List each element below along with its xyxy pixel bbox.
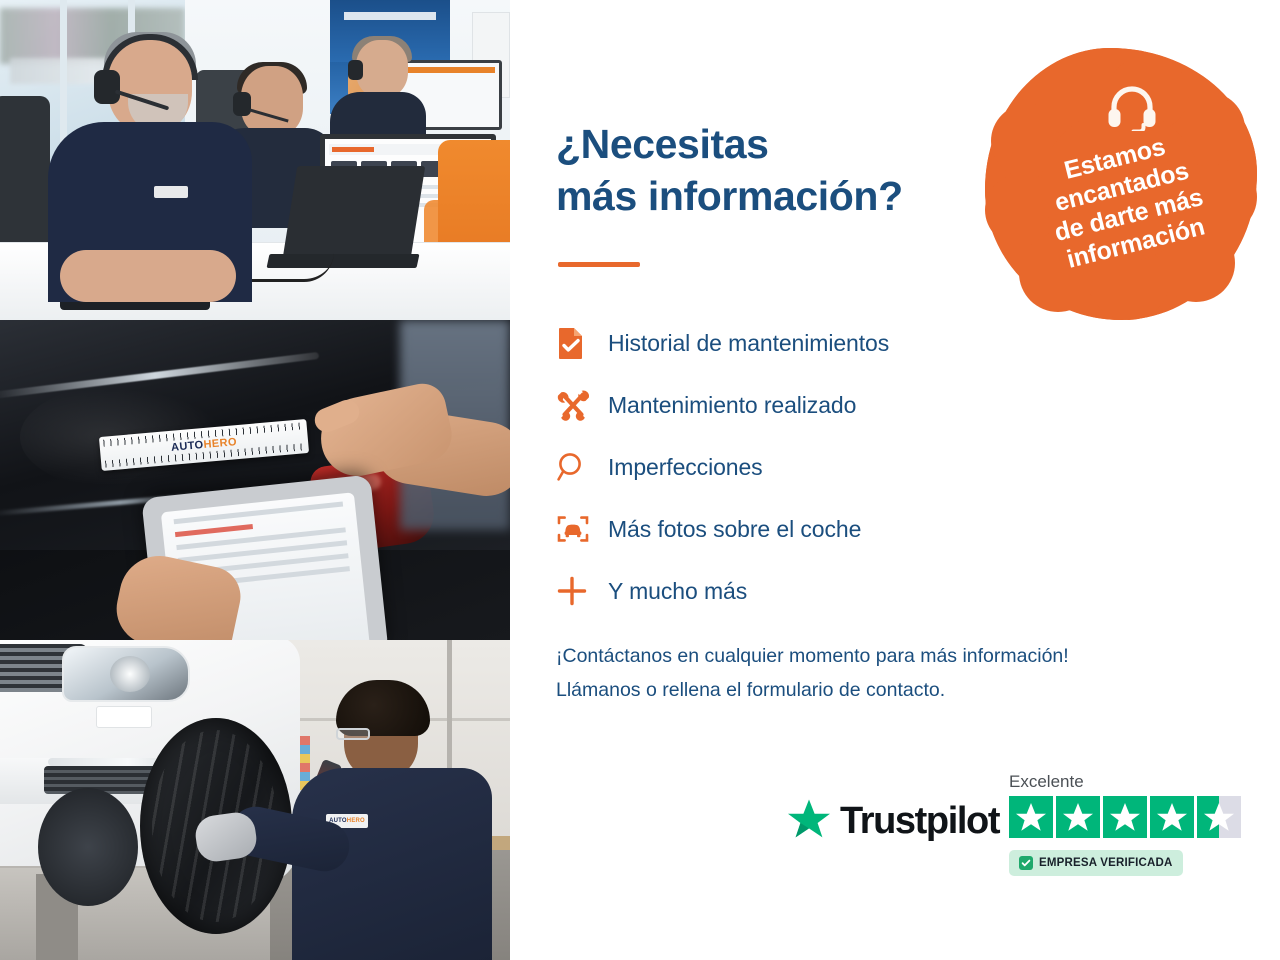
- feature-item-more-photos: Más fotos sobre el coche: [556, 498, 1076, 560]
- feature-label: Más fotos sobre el coche: [608, 516, 861, 543]
- star-icon: [1103, 796, 1147, 838]
- car-headlight: [62, 646, 190, 702]
- feature-label: Mantenimiento realizado: [608, 392, 856, 419]
- badge-text: Estamos encantados de darte más informac…: [956, 19, 1280, 349]
- trustpilot-widget[interactable]: Trustpilot Excelente EMPRESA: [787, 772, 1207, 882]
- license-plate: [96, 706, 152, 728]
- check-badge-icon: [1019, 856, 1033, 870]
- page-title: ¿Necesitas más información?: [556, 118, 1036, 223]
- workshop-wheel-mechanic-photo: AUTOHERO: [0, 640, 510, 960]
- star-icon: [787, 798, 831, 845]
- photo-column: AUTOHERO AUTOHERO: [0, 0, 510, 960]
- verified-badge: EMPRESA VERIFICADA: [1009, 850, 1183, 876]
- content-panel: ¿Necesitas más información? Historial de…: [510, 0, 1280, 960]
- car-viewfinder-icon: [556, 513, 608, 545]
- page-title-line-2: más información?: [556, 170, 1036, 222]
- mechanic-worker: AUTOHERO: [292, 686, 492, 960]
- wheel-hub: [38, 788, 138, 906]
- magnifier-icon: [556, 451, 608, 483]
- star-icon: [1056, 796, 1100, 838]
- page-title-line-1: ¿Necesitas: [556, 118, 1036, 170]
- trustpilot-wordmark: Trustpilot: [840, 800, 999, 843]
- star-rating: [1009, 796, 1241, 838]
- tools-icon: [556, 388, 608, 422]
- info-badge: Estamos encantados de darte más informac…: [985, 48, 1257, 320]
- feature-item-maintenance-done: Mantenimiento realizado: [556, 374, 1076, 436]
- car-inspection-ruler-photo: AUTOHERO: [0, 320, 510, 640]
- rating-label: Excelente: [1009, 772, 1084, 792]
- contact-line-2: Llámanos o rellena el formulario de cont…: [556, 674, 1236, 708]
- verified-label: EMPRESA VERIFICADA: [1039, 857, 1173, 869]
- contact-line-1: ¡Contáctanos en cualquier momento para m…: [556, 640, 1236, 674]
- feature-item-maintenance-history: Historial de mantenimientos: [556, 312, 1076, 374]
- agent-foreground: [42, 36, 252, 301]
- feature-list: Historial de mantenimientos Mantenimi: [556, 312, 1076, 622]
- call-center-agents-photo: [0, 0, 510, 320]
- trustpilot-logo[interactable]: Trustpilot: [787, 798, 999, 845]
- title-underline-accent: [558, 262, 640, 267]
- laptop-screen: [283, 166, 426, 258]
- star-icon-half: [1197, 796, 1241, 838]
- feature-label: Y mucho más: [608, 578, 747, 605]
- plus-icon: [556, 575, 608, 607]
- feature-label: Imperfecciones: [608, 454, 763, 481]
- star-icon: [1009, 796, 1053, 838]
- document-check-icon: [556, 326, 608, 360]
- feature-label: Historial de mantenimientos: [608, 330, 889, 357]
- star-icon: [1150, 796, 1194, 838]
- contact-text: ¡Contáctanos en cualquier momento para m…: [556, 640, 1236, 707]
- feature-item-much-more: Y mucho más: [556, 560, 1076, 622]
- feature-item-imperfections: Imperfecciones: [556, 436, 1076, 498]
